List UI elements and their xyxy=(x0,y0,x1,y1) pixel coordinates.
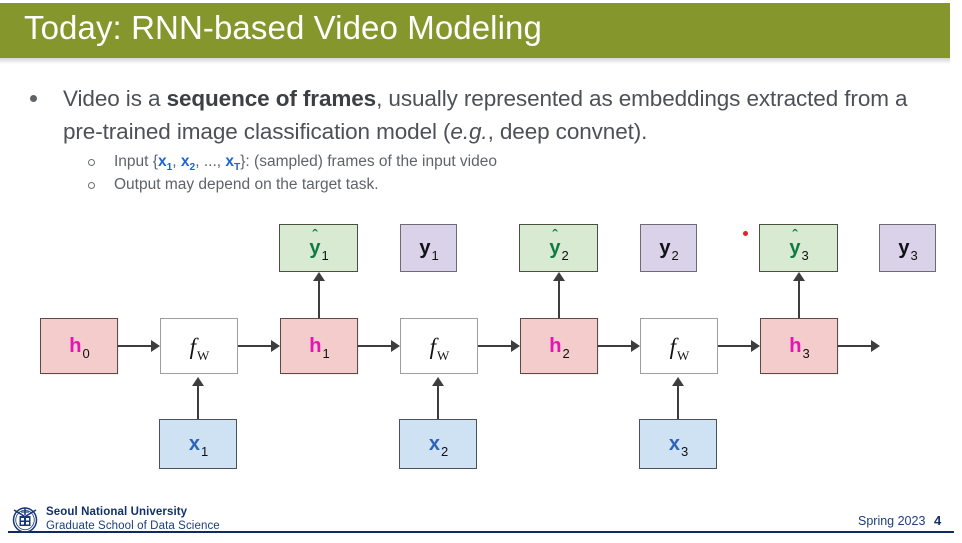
sub-input-prefix: Input { xyxy=(114,153,158,170)
arrow-head-h3-to-yhat3 xyxy=(793,272,805,281)
rnn-cell-box-3: fW xyxy=(640,318,718,374)
target-box-y2: y2 xyxy=(640,224,697,272)
bullet-main-part1: Video is a xyxy=(63,86,167,111)
y3-subscript: 3 xyxy=(910,248,917,263)
bullet-main-italic: e.g. xyxy=(450,119,487,144)
bullet-dot-icon xyxy=(30,95,37,102)
arrow-head-x2-to-f2 xyxy=(432,377,444,386)
sub-bullet-output: Output may depend on the target task. xyxy=(88,175,379,195)
prediction-label-yhat3: ˆy3 xyxy=(789,238,807,258)
arrow-line-h3-to-next xyxy=(838,345,871,347)
prediction-label-yhat1: ˆy1 xyxy=(309,238,327,258)
sub-bullet-circle-icon xyxy=(88,182,95,189)
hidden-state-box-h2: h2 xyxy=(520,318,598,374)
rnn-cell-label-3: fW xyxy=(670,335,689,358)
h2-subscript: 2 xyxy=(562,346,569,361)
prediction-box-yhat1: ˆy1 xyxy=(279,224,358,272)
footer-term: Spring 2023 xyxy=(858,514,925,528)
y2-subscript: 2 xyxy=(671,248,678,263)
target-label-y3: y3 xyxy=(898,238,916,258)
sub-input-ellipsis: , ..., xyxy=(195,153,225,170)
hidden-state-label-h3: h3 xyxy=(789,336,808,356)
h1-subscript: 1 xyxy=(322,346,329,361)
arrow-head-f2-to-h2 xyxy=(511,340,520,352)
arrow-line-h1-to-f2 xyxy=(358,345,391,347)
y2-symbol: y xyxy=(659,237,670,259)
x1-subscript: 1 xyxy=(201,444,208,459)
sub-input-sep-1: , xyxy=(172,153,181,170)
x2-subscript: 2 xyxy=(441,444,448,459)
x3-subscript: 3 xyxy=(681,444,688,459)
y3-symbol: y xyxy=(898,237,909,259)
yhat3-symbol: y xyxy=(789,237,800,259)
arrow-line-x2-to-f2 xyxy=(437,386,439,419)
footer-school: Graduate School of Data Science xyxy=(46,520,220,532)
sub-input-var-1: x xyxy=(158,153,167,170)
rnn-cell-box-1: fW xyxy=(160,318,238,374)
sub-bullet-output-text: Output may depend on the target task. xyxy=(114,175,379,195)
y1-symbol: y xyxy=(419,237,430,259)
footer-university: Seoul National University xyxy=(46,506,187,518)
yhat2-symbol: y xyxy=(549,237,560,259)
fw1-symbol: f xyxy=(190,334,196,359)
bullet-main-text: Video is a sequence of frames, usually r… xyxy=(63,82,930,148)
prediction-box-yhat3: ˆy3 xyxy=(759,224,838,272)
input-label-x1: x1 xyxy=(189,434,207,454)
arrow-head-x1-to-f1 xyxy=(192,377,204,386)
h3-symbol: h xyxy=(789,335,801,357)
y1-subscript: 1 xyxy=(431,248,438,263)
yhat2-hat-accent: ˆ xyxy=(552,228,557,243)
fw3-subscript: W xyxy=(677,348,689,363)
hidden-state-label-h0: h0 xyxy=(69,336,88,356)
arrow-head-f1-to-h1 xyxy=(271,340,280,352)
laser-pointer-dot-icon xyxy=(743,231,748,236)
arrow-head-h2-to-f3 xyxy=(631,340,640,352)
yhat1-subscript: 1 xyxy=(321,248,328,263)
arrow-line-f3-to-h3 xyxy=(718,345,751,347)
x2-symbol: x xyxy=(429,433,440,455)
sub-input-suffix: }: (sampled) frames of the input video xyxy=(240,153,497,170)
fw2-subscript: W xyxy=(437,348,449,363)
rnn-cell-label-2: fW xyxy=(430,335,449,358)
hidden-state-label-h2: h2 xyxy=(549,336,568,356)
hidden-state-box-h3: h3 xyxy=(760,318,838,374)
title-bar-shadow xyxy=(0,58,950,64)
arrow-head-h1-to-yhat1 xyxy=(313,272,325,281)
prediction-box-yhat2: ˆy2 xyxy=(519,224,598,272)
yhat3-subscript: 3 xyxy=(801,248,808,263)
sub-input-var-3: x xyxy=(225,153,234,170)
snu-logo-icon xyxy=(10,505,40,533)
arrow-line-h1-to-yhat1 xyxy=(318,281,320,318)
bullet-main-part3: , deep convnet). xyxy=(488,119,648,144)
h0-subscript: 0 xyxy=(82,346,89,361)
yhat1-symbol: y xyxy=(309,237,320,259)
arrow-line-h2-to-f3 xyxy=(598,345,631,347)
arrow-line-f2-to-h2 xyxy=(478,345,511,347)
target-label-y1: y1 xyxy=(419,238,437,258)
x3-symbol: x xyxy=(669,433,680,455)
target-box-y3: y3 xyxy=(879,224,936,272)
h0-symbol: h xyxy=(69,335,81,357)
page-title: Today: RNN-based Video Modeling xyxy=(24,9,542,47)
arrow-line-h0-to-f1 xyxy=(118,345,151,347)
x1-symbol: x xyxy=(189,433,200,455)
arrow-head-x3-to-f3 xyxy=(672,377,684,386)
arrow-head-h1-to-f2 xyxy=(391,340,400,352)
target-label-y2: y2 xyxy=(659,238,677,258)
sub-bullet-circle-icon xyxy=(88,159,95,166)
fw3-symbol: f xyxy=(670,334,676,359)
input-label-x3: x3 xyxy=(669,434,687,454)
target-box-y1: y1 xyxy=(400,224,457,272)
footer-page-number: 4 xyxy=(934,513,941,528)
arrow-line-f1-to-h1 xyxy=(238,345,271,347)
input-label-x2: x2 xyxy=(429,434,447,454)
prediction-label-yhat2: ˆy2 xyxy=(549,238,567,258)
yhat2-subscript: 2 xyxy=(561,248,568,263)
fw1-subscript: W xyxy=(197,348,209,363)
arrow-head-f3-to-h3 xyxy=(751,340,760,352)
rnn-cell-box-2: fW xyxy=(400,318,478,374)
h1-symbol: h xyxy=(309,335,321,357)
hidden-state-box-h0: h0 xyxy=(40,318,118,374)
hidden-state-label-h1: h1 xyxy=(309,336,328,356)
input-box-x2: x2 xyxy=(399,419,477,469)
input-box-x3: x3 xyxy=(639,419,717,469)
arrow-head-h2-to-yhat2 xyxy=(553,272,565,281)
arrow-line-x1-to-f1 xyxy=(197,386,199,419)
yhat3-hat-accent: ˆ xyxy=(792,228,797,243)
input-box-x1: x1 xyxy=(159,419,237,469)
h2-symbol: h xyxy=(549,335,561,357)
h3-subscript: 3 xyxy=(802,346,809,361)
slide: Today: RNN-based Video Modeling Video is… xyxy=(0,0,962,543)
arrow-line-h2-to-yhat2 xyxy=(558,281,560,318)
fw2-symbol: f xyxy=(430,334,436,359)
bullet-main: Video is a sequence of frames, usually r… xyxy=(30,82,930,148)
rnn-cell-label-1: fW xyxy=(190,335,209,358)
sub-input-var-2: x xyxy=(181,153,190,170)
arrow-line-x3-to-f3 xyxy=(677,386,679,419)
hidden-state-box-h1: h1 xyxy=(280,318,358,374)
arrow-head-h3-to-next xyxy=(871,340,880,352)
bullet-main-bold: sequence of frames xyxy=(167,86,377,111)
arrow-line-h3-to-yhat3 xyxy=(798,281,800,318)
arrow-head-h0-to-f1 xyxy=(151,340,160,352)
yhat1-hat-accent: ˆ xyxy=(312,228,317,243)
